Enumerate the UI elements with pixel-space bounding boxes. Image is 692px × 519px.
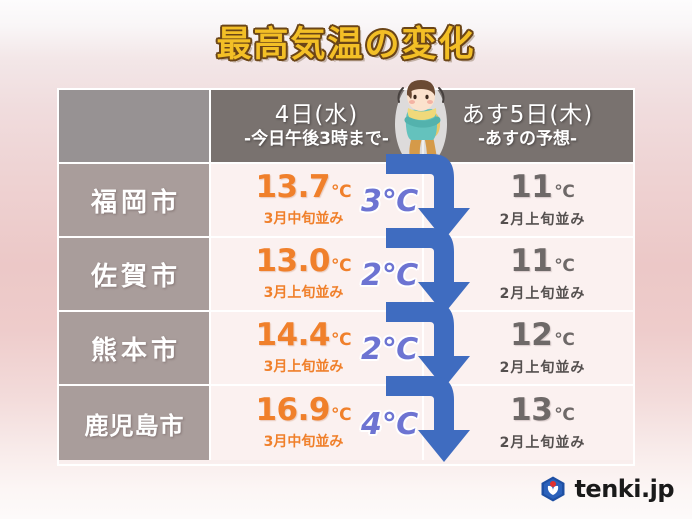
weather-graphic: 最高気温の変化 4日(水) -今日午後3時まで- あす5日(木) -あすの予想- <box>0 0 692 519</box>
tomorrow-temp-value: 12 <box>510 320 552 351</box>
today-temp-line: 16.9℃ <box>255 395 351 426</box>
tomorrow-temp-line: 11℃ <box>510 172 575 203</box>
today-note: 3月中旬並み <box>264 208 344 228</box>
temp-delta-label: 2℃ <box>361 261 418 291</box>
table-row: 熊本市14.4℃3月上旬並み12℃2月上旬並み2℃ <box>59 312 633 386</box>
temp-delta-label: 2℃ <box>361 335 418 365</box>
city-label: 佐賀市 <box>87 256 181 293</box>
tomorrow-note: 2月上旬並み <box>500 432 586 452</box>
today-temp-value: 16.9 <box>255 395 330 426</box>
today-temp-line: 13.0℃ <box>255 246 351 277</box>
tomorrow-temp-line: 11℃ <box>510 246 575 277</box>
city-label: 鹿児島市 <box>84 406 185 441</box>
temp-delta-label: 4℃ <box>361 410 418 440</box>
tenki-logo-text: tenki.jp <box>574 475 674 503</box>
tomorrow-block: 11℃2月上旬並み <box>422 164 633 236</box>
table-row: 佐賀市13.0℃3月上旬並み11℃2月上旬並み2℃ <box>59 238 633 312</box>
tomorrow-note: 2月上旬並み <box>500 209 586 229</box>
row-temperatures: 13.0℃3月上旬並み11℃2月上旬並み2℃ <box>211 238 633 310</box>
title-container: 最高気温の変化 <box>0 16 692 67</box>
today-temp-unit: ℃ <box>331 184 352 201</box>
tomorrow-temp-unit: ℃ <box>554 184 575 201</box>
header-days-cell: 4日(水) -今日午後3時まで- あす5日(木) -あすの予想- <box>211 90 633 162</box>
today-temp-line: 13.7℃ <box>255 172 351 203</box>
tomorrow-temp-unit: ℃ <box>554 258 575 275</box>
today-note: 3月上旬並み <box>264 356 344 376</box>
today-temp-value: 13.0 <box>255 246 330 277</box>
city-cell: 鹿児島市 <box>59 386 211 460</box>
row-temperatures: 13.7℃3月中旬並み11℃2月上旬並み3℃ <box>211 164 633 236</box>
tomorrow-temp-line: 12℃ <box>510 320 575 351</box>
header-tomorrow: あす5日(木) -あすの予想- <box>422 102 633 151</box>
row-temperatures: 16.9℃3月中旬並み13℃2月上旬並み4℃ <box>211 386 633 460</box>
header-tomorrow-note: -あすの予想- <box>422 128 633 150</box>
today-temp-value: 13.7 <box>255 172 330 203</box>
tenki-logo[interactable]: tenki.jp <box>539 475 674 503</box>
table-row: 福岡市13.7℃3月中旬並み11℃2月上旬並み3℃ <box>59 164 633 238</box>
tomorrow-block: 11℃2月上旬並み <box>422 238 633 310</box>
row-temperatures: 14.4℃3月上旬並み12℃2月上旬並み2℃ <box>211 312 633 384</box>
today-note: 3月中旬並み <box>264 431 344 451</box>
tomorrow-note: 2月上旬並み <box>500 357 586 377</box>
today-temp-unit: ℃ <box>331 332 352 349</box>
city-label: 福岡市 <box>87 182 181 219</box>
today-note: 3月上旬並み <box>264 282 344 302</box>
today-temp-unit: ℃ <box>331 407 352 424</box>
table-row: 鹿児島市16.9℃3月中旬並み13℃2月上旬並み4℃ <box>59 386 633 460</box>
city-label: 熊本市 <box>87 330 181 367</box>
tomorrow-temp-unit: ℃ <box>554 332 575 349</box>
temperature-table: 4日(水) -今日午後3時まで- あす5日(木) -あすの予想- <box>57 88 635 466</box>
city-cell: 佐賀市 <box>59 238 211 310</box>
today-temp-value: 14.4 <box>255 320 330 351</box>
tomorrow-temp-line: 13℃ <box>510 395 575 426</box>
tenki-cube-icon <box>539 475 567 503</box>
table-header-row: 4日(水) -今日午後3時まで- あす5日(木) -あすの予想- <box>59 90 633 164</box>
tomorrow-temp-value: 11 <box>510 246 552 277</box>
tomorrow-temp-value: 13 <box>510 395 552 426</box>
tomorrow-temp-unit: ℃ <box>554 407 575 424</box>
tomorrow-block: 13℃2月上旬並み <box>422 386 633 460</box>
header-tomorrow-date: あす5日(木) <box>422 102 633 128</box>
page-title: 最高気温の変化 <box>216 16 475 67</box>
temp-delta-label: 3℃ <box>361 187 418 217</box>
tomorrow-note: 2月上旬並み <box>500 283 586 303</box>
today-temp-line: 14.4℃ <box>255 320 351 351</box>
shivering-person-icon <box>389 78 453 170</box>
header-city-cell <box>59 90 211 162</box>
city-cell: 福岡市 <box>59 164 211 236</box>
today-temp-unit: ℃ <box>331 258 352 275</box>
tomorrow-block: 12℃2月上旬並み <box>422 312 633 384</box>
city-cell: 熊本市 <box>59 312 211 384</box>
tomorrow-temp-value: 11 <box>510 172 552 203</box>
